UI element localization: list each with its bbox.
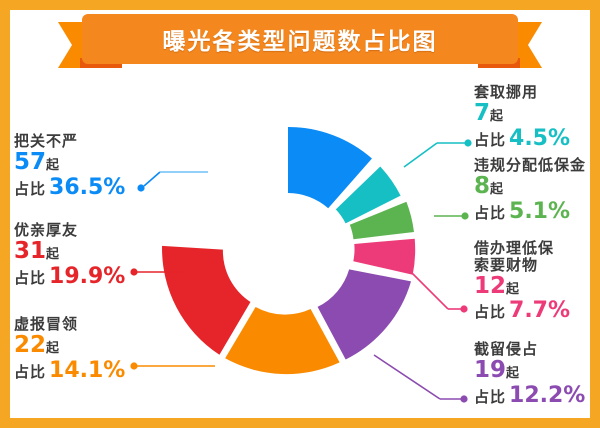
label-taoqunuoyong-unit: 起 xyxy=(490,110,503,125)
label-taoqunuoyong-name: 套取挪用 xyxy=(474,84,570,101)
page-title: 曝光各类型问题数占比图 xyxy=(58,14,542,64)
label-jieblidibao-unit: 起 xyxy=(506,283,519,298)
label-weiguifenpei-percent: 5.1% xyxy=(509,200,570,225)
label-weiguifenpei-unit: 起 xyxy=(490,183,503,198)
label-xubaomaoling-unit: 起 xyxy=(46,342,59,357)
label-jieblidibao-name-line1: 借办理低保 xyxy=(474,240,570,257)
label-jieblidibao-cases-row: 12 起 xyxy=(474,274,570,300)
label-youqinhouyou: 优亲厚友 31 起 占比 19.9% xyxy=(14,222,125,289)
label-baguanbuyan-name: 把关不严 xyxy=(14,133,125,150)
donut-chart xyxy=(159,125,417,383)
label-weiguifenpei-share-prefix: 占比 xyxy=(474,205,506,222)
label-jieliuqinzhan-unit: 起 xyxy=(506,367,519,382)
title-ribbon: 曝光各类型问题数占比图 xyxy=(58,14,542,72)
label-xubaomaoling-share-row: 占比 14.1% xyxy=(14,359,125,384)
label-weiguifenpei: 违规分配低保金 8 起 占比 5.1% xyxy=(474,157,586,224)
label-baguanbuyan-unit: 起 xyxy=(46,159,59,174)
label-xubaomaoling-share-prefix: 占比 xyxy=(14,364,46,381)
label-taoqunuoyong-cases: 7 xyxy=(474,101,490,127)
label-weiguifenpei-cases-row: 8 起 xyxy=(474,174,586,200)
label-jieblidibao-share-prefix: 占比 xyxy=(474,304,506,321)
label-youqinhouyou-share-prefix: 占比 xyxy=(14,270,46,287)
label-weiguifenpei-cases: 8 xyxy=(474,174,490,200)
label-xubaomaoling-cases: 22 xyxy=(14,333,46,359)
slice-xubaomaoling[interactable] xyxy=(225,307,339,374)
label-youqinhouyou-percent: 19.9% xyxy=(49,265,125,290)
label-youqinhouyou-share-row: 占比 19.9% xyxy=(14,265,125,290)
label-baguanbuyan-percent: 36.5% xyxy=(49,176,125,201)
label-baguanbuyan-share-prefix: 占比 xyxy=(14,181,46,198)
label-jieblidibao-share-row: 占比 7.7% xyxy=(474,299,570,324)
label-taoqunuoyong-percent: 4.5% xyxy=(509,127,570,152)
label-xubaomaoling-cases-row: 22 起 xyxy=(14,333,125,359)
slice-jieblidibao[interactable] xyxy=(353,239,415,275)
label-jieblidibao: 借办理低保 索要财物 12 起 占比 7.7% xyxy=(474,240,570,324)
label-taoqunuoyong: 套取挪用 7 起 占比 4.5% xyxy=(474,84,570,151)
label-jieliuqinzhan-share-row: 占比 12.2% xyxy=(474,384,585,409)
label-taoqunuoyong-cases-row: 7 起 xyxy=(474,101,570,127)
label-jieliuqinzhan-cases-row: 19 起 xyxy=(474,358,585,384)
label-jieliuqinzhan-cases: 19 xyxy=(474,358,506,384)
label-jieblidibao-name-line2: 索要财物 xyxy=(474,257,570,274)
leader-jieblidibao xyxy=(411,272,468,313)
leader-weiguifenpei xyxy=(434,212,469,219)
label-jieliuqinzhan-percent: 12.2% xyxy=(509,384,585,409)
label-xubaomaoling-percent: 14.1% xyxy=(49,359,125,384)
label-jieblidibao-cases: 12 xyxy=(474,274,506,300)
label-youqinhouyou-name: 优亲厚友 xyxy=(14,222,125,239)
label-jieliuqinzhan-name: 截留侵占 xyxy=(474,341,585,358)
label-baguanbuyan-cases-row: 57 起 xyxy=(14,150,125,176)
donut-slices xyxy=(162,127,415,374)
label-taoqunuoyong-share-prefix: 占比 xyxy=(474,132,506,149)
label-weiguifenpei-name: 违规分配低保金 xyxy=(474,157,586,174)
label-xubaomaoling-name: 虚报冒领 xyxy=(14,316,125,333)
label-jieblidibao-percent: 7.7% xyxy=(509,299,570,324)
slice-jieliuqinzhan[interactable] xyxy=(318,269,411,359)
label-weiguifenpei-share-row: 占比 5.1% xyxy=(474,200,586,225)
label-xubaomaoling: 虚报冒领 22 起 占比 14.1% xyxy=(14,316,125,383)
donut-svg xyxy=(159,125,417,383)
label-youqinhouyou-cases-row: 31 起 xyxy=(14,239,125,265)
label-baguanbuyan: 把关不严 57 起 占比 36.5% xyxy=(14,133,125,200)
label-taoqunuoyong-share-row: 占比 4.5% xyxy=(474,127,570,152)
label-baguanbuyan-cases: 57 xyxy=(14,150,46,176)
label-youqinhouyou-unit: 起 xyxy=(46,248,59,263)
label-jieliuqinzhan-share-prefix: 占比 xyxy=(474,389,506,406)
label-jieliuqinzhan: 截留侵占 19 起 占比 12.2% xyxy=(474,341,585,408)
label-baguanbuyan-share-row: 占比 36.5% xyxy=(14,176,125,201)
infographic-root: 曝光各类型问题数占比图 xyxy=(0,0,600,428)
label-youqinhouyou-cases: 31 xyxy=(14,239,46,265)
